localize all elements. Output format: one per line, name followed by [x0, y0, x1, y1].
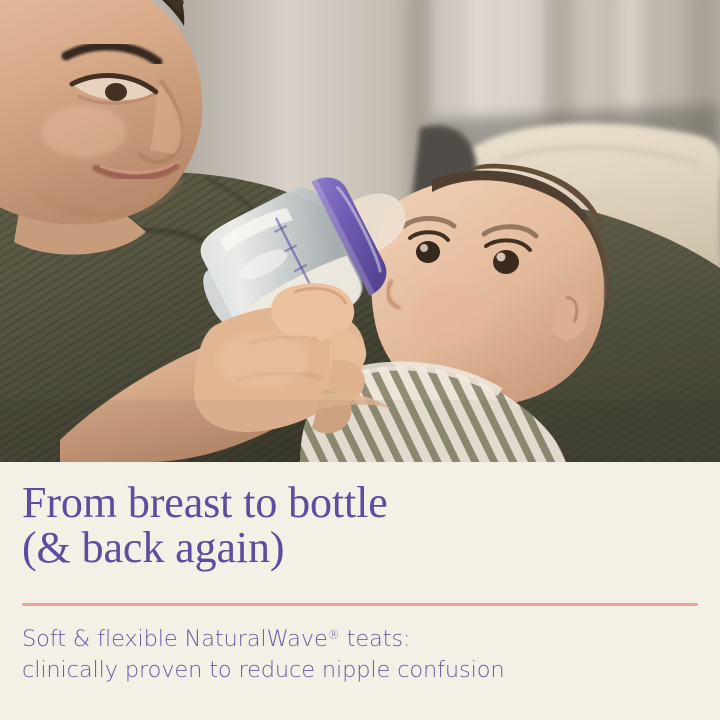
registered-trademark-icon: ®	[328, 628, 340, 642]
product-advertisement-card: From breast to bottle (& back again) Sof…	[0, 0, 720, 720]
subheading-line-2: clinically proven to reduce nipple confu…	[22, 657, 504, 683]
divider	[22, 603, 698, 606]
page-title: From breast to bottle (& back again)	[22, 480, 682, 570]
hero-photo	[0, 0, 720, 462]
subheading-line-1-text: Soft & flexible NaturalWave	[22, 626, 328, 652]
subheading: Soft & flexible NaturalWave® teats: clin…	[22, 620, 702, 686]
hero-photo-illustration	[0, 0, 720, 462]
subheading-line-1-suffix: teats:	[340, 626, 411, 652]
marketing-copy-panel: From breast to bottle (& back again) Sof…	[0, 462, 720, 720]
